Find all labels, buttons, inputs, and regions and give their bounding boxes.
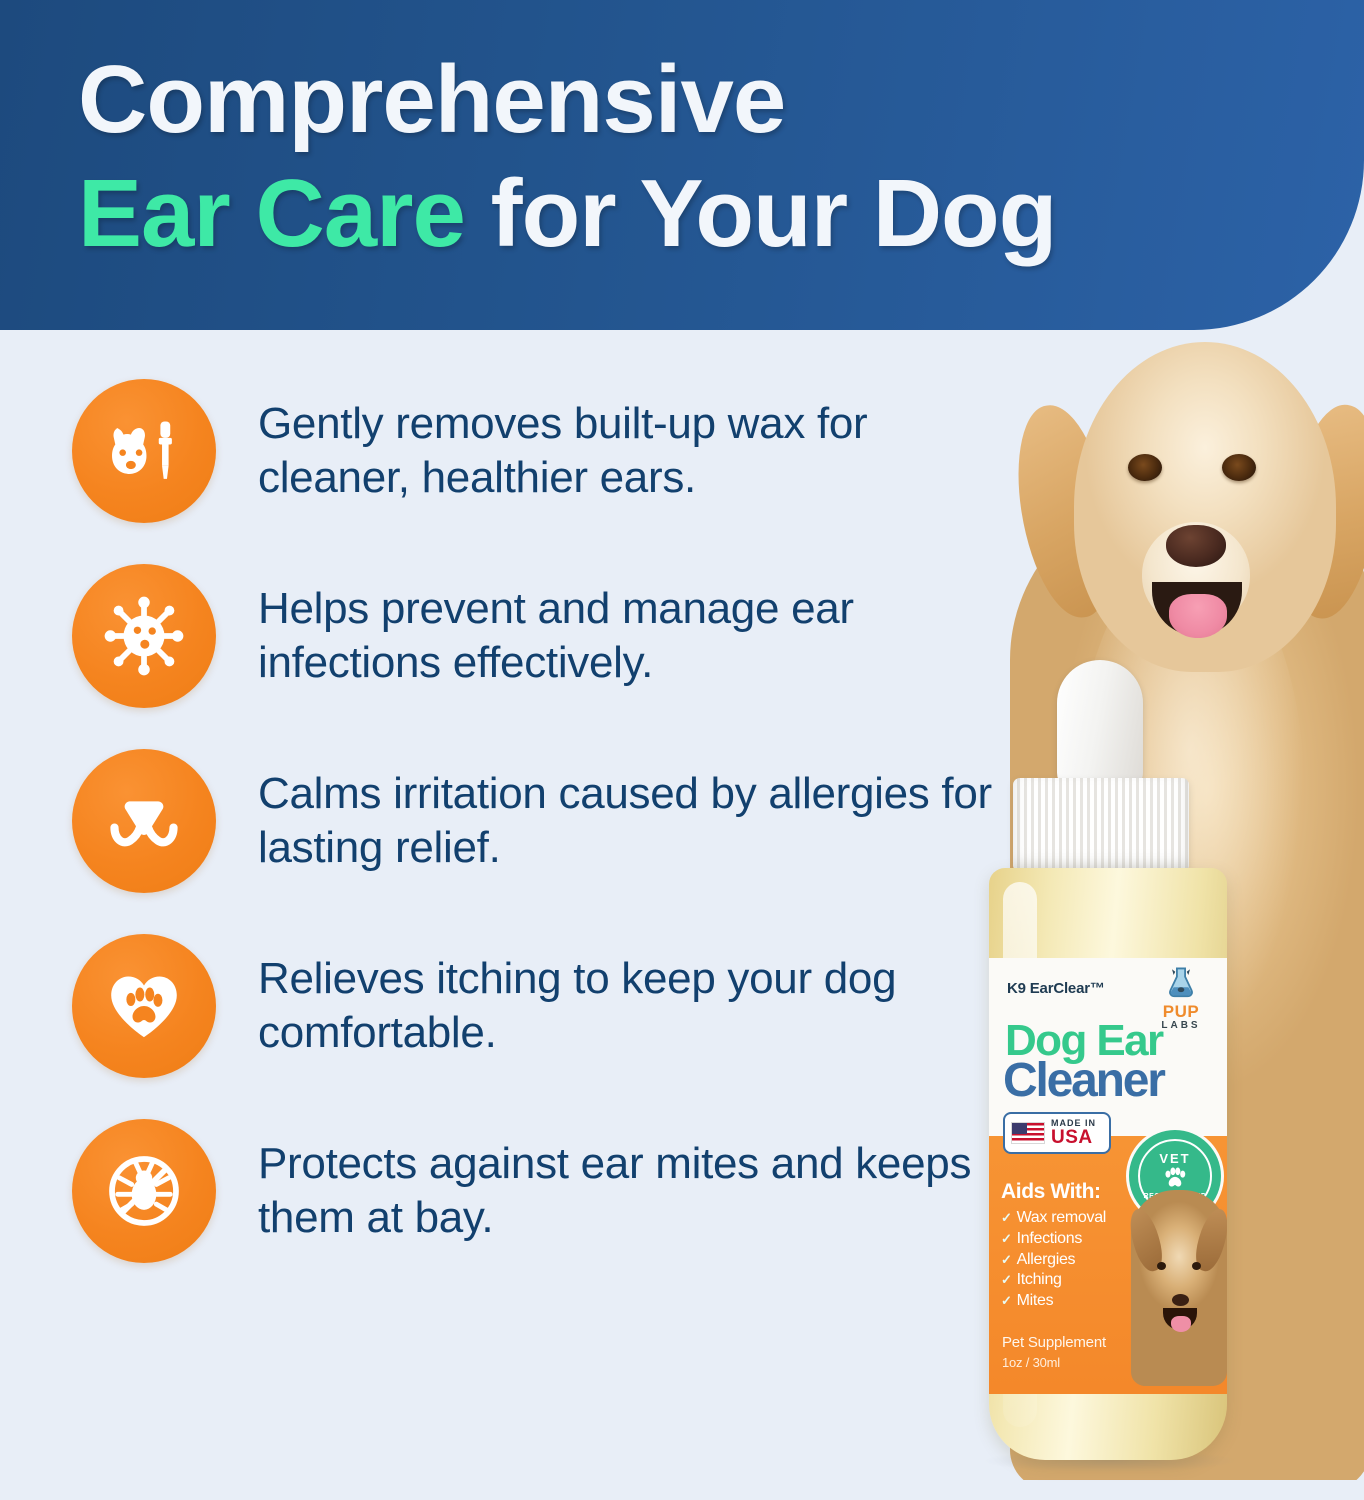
dog-tongue — [1169, 594, 1227, 638]
label-dog-eye-left — [1157, 1262, 1166, 1270]
usa-label: USA — [1051, 1128, 1096, 1147]
aids-list-item: ✓ Infections — [1001, 1229, 1133, 1250]
dropper-bulb-icon — [1057, 660, 1143, 792]
aids-item-label: Wax removal — [1017, 1208, 1106, 1229]
dog-eye-right — [1222, 454, 1256, 481]
no-mites-icon — [72, 1119, 216, 1263]
product-name-line-2: Cleaner — [1003, 1058, 1164, 1104]
benefit-text: Helps prevent and manage ear infections … — [258, 582, 1000, 689]
check-icon: ✓ — [1001, 1231, 1012, 1248]
aids-item-label: Mites — [1017, 1291, 1054, 1312]
page-title-line-2: Ear Care for Your Dog — [78, 166, 1258, 262]
label-orange-section: MADE IN USA VET — [989, 1136, 1227, 1394]
dog-dropper-icon — [72, 379, 216, 523]
label-dog-tongue — [1171, 1316, 1191, 1332]
label-dog-photo — [1131, 1190, 1227, 1386]
size-label: 1oz / 30ml — [1002, 1355, 1060, 1370]
benefits-list: Gently removes built-up wax for cleaner,… — [0, 358, 1000, 1283]
benefit-item: Calms irritation caused by allergies for… — [0, 728, 1000, 913]
flask-dog-icon — [1164, 966, 1198, 1002]
header-title-block: Comprehensive Ear Care for Your Dog — [78, 52, 1258, 262]
benefit-text: Relieves itching to keep your dog comfor… — [258, 952, 1000, 1059]
dog-snout-icon — [72, 749, 216, 893]
page-title-accent: Ear Care — [78, 160, 465, 267]
product-bottle: K9 EarClear™ PUP LABS Dog Ear C — [965, 660, 1255, 1460]
aids-item-label: Allergies — [1017, 1250, 1076, 1271]
check-icon: ✓ — [1001, 1210, 1012, 1227]
header-banner: Comprehensive Ear Care for Your Dog — [0, 0, 1364, 330]
benefit-text: Protects against ear mites and keeps the… — [258, 1137, 1000, 1244]
label-dog-eye-right — [1192, 1262, 1201, 1270]
check-icon: ✓ — [1001, 1272, 1012, 1289]
aids-list-item: ✓ Wax removal — [1001, 1208, 1133, 1229]
usa-flag-icon — [1011, 1122, 1045, 1144]
benefit-item: Helps prevent and manage ear infections … — [0, 543, 1000, 728]
vet-label: VET — [1159, 1152, 1190, 1165]
aids-list-item: ✓ Itching — [1001, 1270, 1133, 1291]
infographic-page: Comprehensive Ear Care for Your Dog — [0, 0, 1364, 1500]
benefit-item: Protects against ear mites and keeps the… — [0, 1098, 1000, 1283]
aids-with-title: Aids With: — [1001, 1180, 1133, 1204]
dog-nose — [1166, 525, 1226, 567]
aids-with-block: Aids With: ✓ Wax removal ✓ Infections ✓ … — [1001, 1180, 1133, 1312]
made-in-usa-badge: MADE IN USA — [1003, 1112, 1111, 1154]
dog-eye-left — [1128, 454, 1162, 481]
supplement-label: Pet Supplement — [1002, 1334, 1106, 1351]
check-icon: ✓ — [1001, 1252, 1012, 1269]
page-title-line-1: Comprehensive — [78, 52, 1258, 148]
benefit-text: Calms irritation caused by allergies for… — [258, 767, 1000, 874]
label-top-section: K9 EarClear™ PUP LABS Dog Ear C — [989, 958, 1227, 1136]
aids-item-label: Infections — [1017, 1229, 1083, 1250]
aids-list-item: ✓ Allergies — [1001, 1250, 1133, 1271]
check-icon: ✓ — [1001, 1293, 1012, 1310]
aids-item-label: Itching — [1017, 1270, 1062, 1291]
brand-mark: K9 EarClear™ — [1007, 980, 1105, 997]
paw-icon — [1161, 1165, 1189, 1193]
benefit-item: Relieves itching to keep your dog comfor… — [0, 913, 1000, 1098]
label-dog-nose — [1172, 1294, 1189, 1306]
made-in-usa-text: MADE IN USA — [1051, 1119, 1096, 1147]
bottle-cap — [1013, 778, 1189, 872]
heart-paw-icon — [72, 934, 216, 1078]
virus-icon — [72, 564, 216, 708]
benefit-text: Gently removes built-up wax for cleaner,… — [258, 397, 1000, 504]
benefit-item: Gently removes built-up wax for cleaner,… — [0, 358, 1000, 543]
bottle-glass: K9 EarClear™ PUP LABS Dog Ear C — [989, 868, 1227, 1460]
aids-list-item: ✓ Mites — [1001, 1291, 1133, 1312]
bottle-label: K9 EarClear™ PUP LABS Dog Ear C — [989, 958, 1227, 1394]
page-title-rest: for Your Dog — [491, 160, 1057, 267]
